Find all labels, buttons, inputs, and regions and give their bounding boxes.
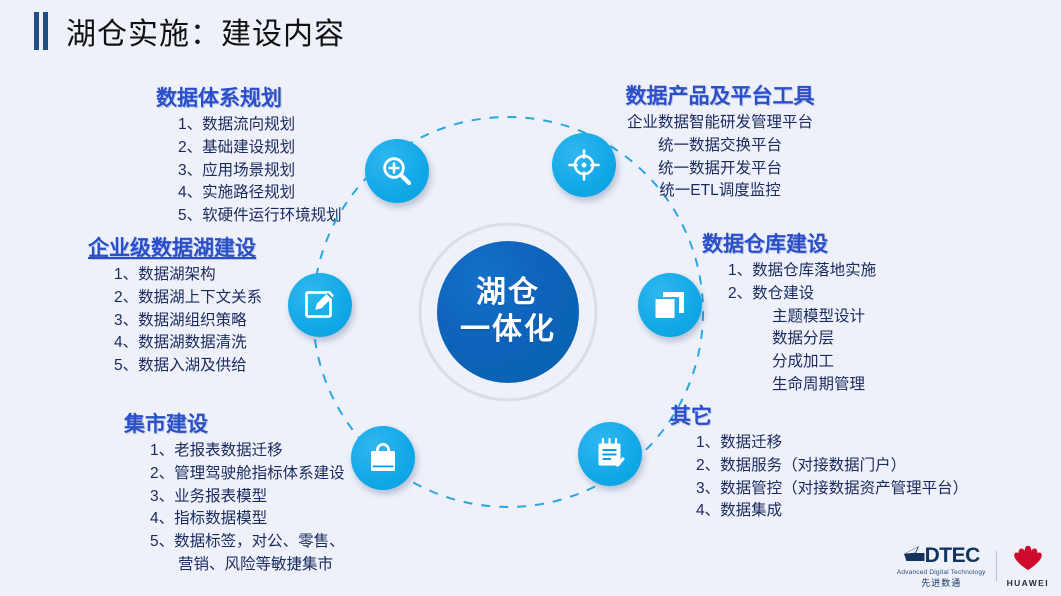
list-item: 1、数据湖架构: [114, 264, 262, 287]
dtec-logo: DTEC Advanced Digital Technology 先进数通: [897, 544, 986, 588]
sub-list-item: 主题模型设计: [772, 306, 876, 329]
block-data-warehouse: 数据仓库建设 1、数据仓库落地实施 2、数仓建设 主题模型设计 数据分层 分成加…: [700, 228, 876, 397]
sub-list-item: 数据分层: [772, 328, 876, 351]
list-item: 统一ETL调度监控: [600, 180, 840, 203]
center-line-2: 一体化: [460, 312, 556, 349]
checklist-notepad-icon: [593, 437, 627, 471]
list-item: 3、应用场景规划: [178, 160, 342, 183]
node-data-system-planning[interactable]: [365, 139, 429, 203]
huawei-logo: HUAWEI: [1007, 545, 1049, 588]
center-line-1: 湖仓: [476, 275, 540, 312]
copy-layers-icon: [653, 288, 687, 322]
list-item: 4、数据集成: [696, 500, 968, 523]
list-item: 统一数据开发平台: [600, 158, 840, 181]
node-data-warehouse[interactable]: [638, 273, 702, 337]
list-item: 4、指标数据模型: [150, 508, 345, 531]
list-item: 2、数据湖上下文关系: [114, 287, 262, 310]
dtec-tagline: Advanced Digital Technology: [897, 570, 986, 577]
list-item-continuation: 营销、风险等敏捷集市: [178, 554, 345, 577]
node-other[interactable]: [578, 422, 642, 486]
block-heading: 集市建设: [122, 408, 345, 438]
list-item: 2、管理驾驶舱指标体系建设: [150, 463, 345, 486]
dtec-chinese-name: 先进数通: [921, 579, 961, 588]
sub-list-item: 生命周期管理: [772, 374, 876, 397]
dtec-arrow-icon: [903, 544, 925, 567]
block-heading: 企业级数据湖建设: [86, 232, 262, 262]
block-other: 其它 1、数据迁移 2、数据服务（对接数据门户） 3、数据管控（对接数据资产管理…: [668, 400, 968, 523]
list-item: 统一数据交换平台: [600, 135, 840, 158]
list-item: 2、数仓建设: [728, 283, 876, 306]
list-item: 1、老报表数据迁移: [150, 440, 345, 463]
block-data-system-planning: 数据体系规划 1、数据流向规划 2、基础建设规划 3、应用场景规划 4、实施路径…: [150, 82, 342, 228]
list-item: 3、数据管控（对接数据资产管理平台）: [696, 478, 968, 501]
footer-logos: DTEC Advanced Digital Technology 先进数通 HU…: [897, 544, 1049, 588]
target-icon: [567, 148, 601, 182]
block-heading: 数据仓库建设: [700, 228, 876, 258]
list-item: 2、基础建设规划: [178, 137, 342, 160]
dtec-wordmark: DTEC: [925, 545, 980, 566]
block-data-mart: 集市建设 1、老报表数据迁移 2、管理驾驶舱指标体系建设 3、业务报表模型 4、…: [122, 408, 345, 577]
list-item: 4、实施路径规划: [178, 182, 342, 205]
block-data-product-platform: 数据产品及平台工具 企业数据智能研发管理平台 统一数据交换平台 统一数据开发平台…: [600, 80, 840, 203]
list-item: 1、数据仓库落地实施: [728, 260, 876, 283]
list-item: 1、数据迁移: [696, 432, 968, 455]
block-enterprise-data-lake: 企业级数据湖建设 1、数据湖架构 2、数据湖上下文关系 3、数据湖组织策略 4、…: [86, 232, 262, 378]
list-item: 5、数据标签，对公、零售、: [150, 531, 345, 554]
shopping-bag-icon: [366, 441, 400, 475]
center-hub: 湖仓 一体化: [437, 241, 579, 383]
huawei-wordmark: HUAWEI: [1007, 578, 1049, 588]
list-item: 3、业务报表模型: [150, 486, 345, 509]
list-item: 3、数据湖组织策略: [114, 310, 262, 333]
block-heading: 数据体系规划: [150, 82, 342, 112]
list-item: 5、软硬件运行环境规划: [178, 205, 342, 228]
list-item: 2、数据服务（对接数据门户）: [696, 455, 968, 478]
huawei-flower-icon: [1009, 545, 1047, 576]
diagram-stage: 湖仓 一体化: [0, 0, 1061, 596]
edit-square-icon: [303, 288, 337, 322]
zoom-in-icon: [380, 154, 414, 188]
list-item: 1、数据流向规划: [178, 114, 342, 137]
block-heading: 其它: [668, 400, 968, 430]
sub-list-item: 分成加工: [772, 351, 876, 374]
list-item: 企业数据智能研发管理平台: [600, 112, 840, 135]
node-enterprise-data-lake[interactable]: [288, 273, 352, 337]
list-item: 4、数据湖数据清洗: [114, 332, 262, 355]
block-heading: 数据产品及平台工具: [600, 80, 840, 110]
list-item: 5、数据入湖及供给: [114, 355, 262, 378]
logo-divider: [996, 551, 997, 581]
node-data-mart[interactable]: [351, 426, 415, 490]
